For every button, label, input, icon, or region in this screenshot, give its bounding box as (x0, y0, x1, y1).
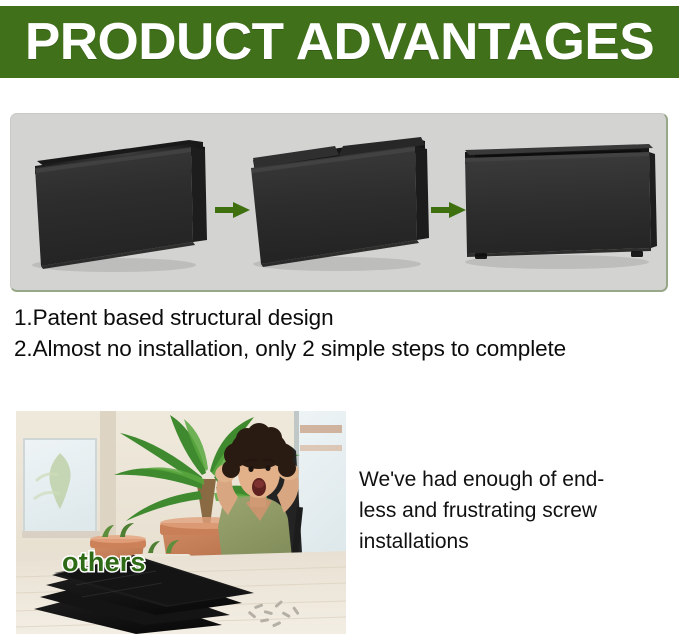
advantage-item-2: 2.Almost no installation, only 2 simple … (14, 333, 674, 364)
advantages-list: 1.Patent based structural design 2.Almos… (14, 302, 674, 364)
diagram-stage-flat-packed-planter (19, 114, 215, 290)
flat-packed-planter-icon (19, 114, 215, 292)
others-badge: others (62, 549, 146, 576)
advantage-item-1: 1.Patent based structural design (14, 302, 674, 333)
others-problem-photo (16, 411, 346, 634)
product-advantages-banner: PRODUCT ADVANTAGES (0, 6, 679, 78)
partially-unfolded-planter-icon (239, 114, 435, 292)
diagram-stage-assembled-planter (453, 114, 663, 290)
assembled-planter-box-icon (453, 114, 663, 292)
caption-line-2: less and frustrating screw (359, 495, 659, 526)
assembly-steps-panel (10, 113, 668, 292)
diagram-stage-partially-unfolded-planter (239, 114, 435, 290)
photo-caption: We've had enough of end- less and frustr… (359, 464, 659, 557)
caption-line-3: installations (359, 526, 659, 557)
caption-line-1: We've had enough of end- (359, 464, 659, 495)
page-title: PRODUCT ADVANTAGES (25, 16, 654, 68)
frustrated-customer-photo (16, 411, 346, 634)
